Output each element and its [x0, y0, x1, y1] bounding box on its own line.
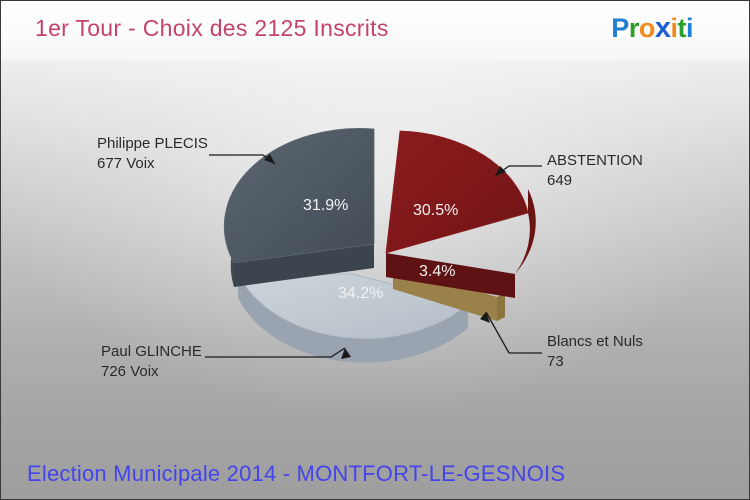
slice-percent-abstention: 30.5%: [413, 202, 458, 220]
callout-plecis: Philippe PLECIS 677 Voix: [97, 134, 208, 175]
slice-percent-plecis: 31.9%: [303, 197, 348, 215]
slice-percent-blancs: 3.4%: [419, 263, 455, 281]
logo-letter-p: P: [611, 13, 629, 44]
callout-abstention-value: 649: [547, 171, 643, 191]
logo-letter-t: t: [677, 13, 686, 44]
proxiti-logo[interactable]: Proxiti: [611, 12, 693, 45]
callout-abstention: ABSTENTION 649: [547, 151, 643, 192]
callout-blancs: Blancs et Nuls 73: [547, 332, 643, 373]
callout-glinche-name: Paul GLINCHE: [101, 343, 202, 360]
callout-glinche: Paul GLINCHE 726 Voix: [101, 342, 202, 383]
callout-abstention-name: ABSTENTION: [547, 152, 643, 169]
logo-letter-x: x: [655, 12, 671, 45]
slice-percent-glinche: 34.2%: [338, 285, 383, 303]
chart-page: 1er Tour - Choix des 2125 Inscrits Proxi…: [0, 0, 750, 500]
callout-plecis-value: 677 Voix: [97, 154, 208, 174]
footer-caption: Election Municipale 2014 - MONTFORT-LE-G…: [27, 461, 565, 487]
page-title: 1er Tour - Choix des 2125 Inscrits: [35, 15, 389, 42]
logo-letter-o: o: [639, 13, 655, 44]
pie-slice-plecis[interactable]: [224, 128, 374, 287]
pie-chart: [1, 1, 750, 500]
callout-blancs-value: 73: [547, 352, 643, 372]
logo-letter-i1: i: [670, 13, 677, 44]
callout-blancs-name: Blancs et Nuls: [547, 333, 643, 350]
pie-slice-abstention[interactable]: [386, 131, 536, 298]
logo-letter-r: r: [629, 13, 639, 44]
logo-letter-i2: i: [686, 13, 693, 44]
callout-plecis-name: Philippe PLECIS: [97, 135, 208, 152]
callout-glinche-value: 726 Voix: [101, 362, 202, 382]
